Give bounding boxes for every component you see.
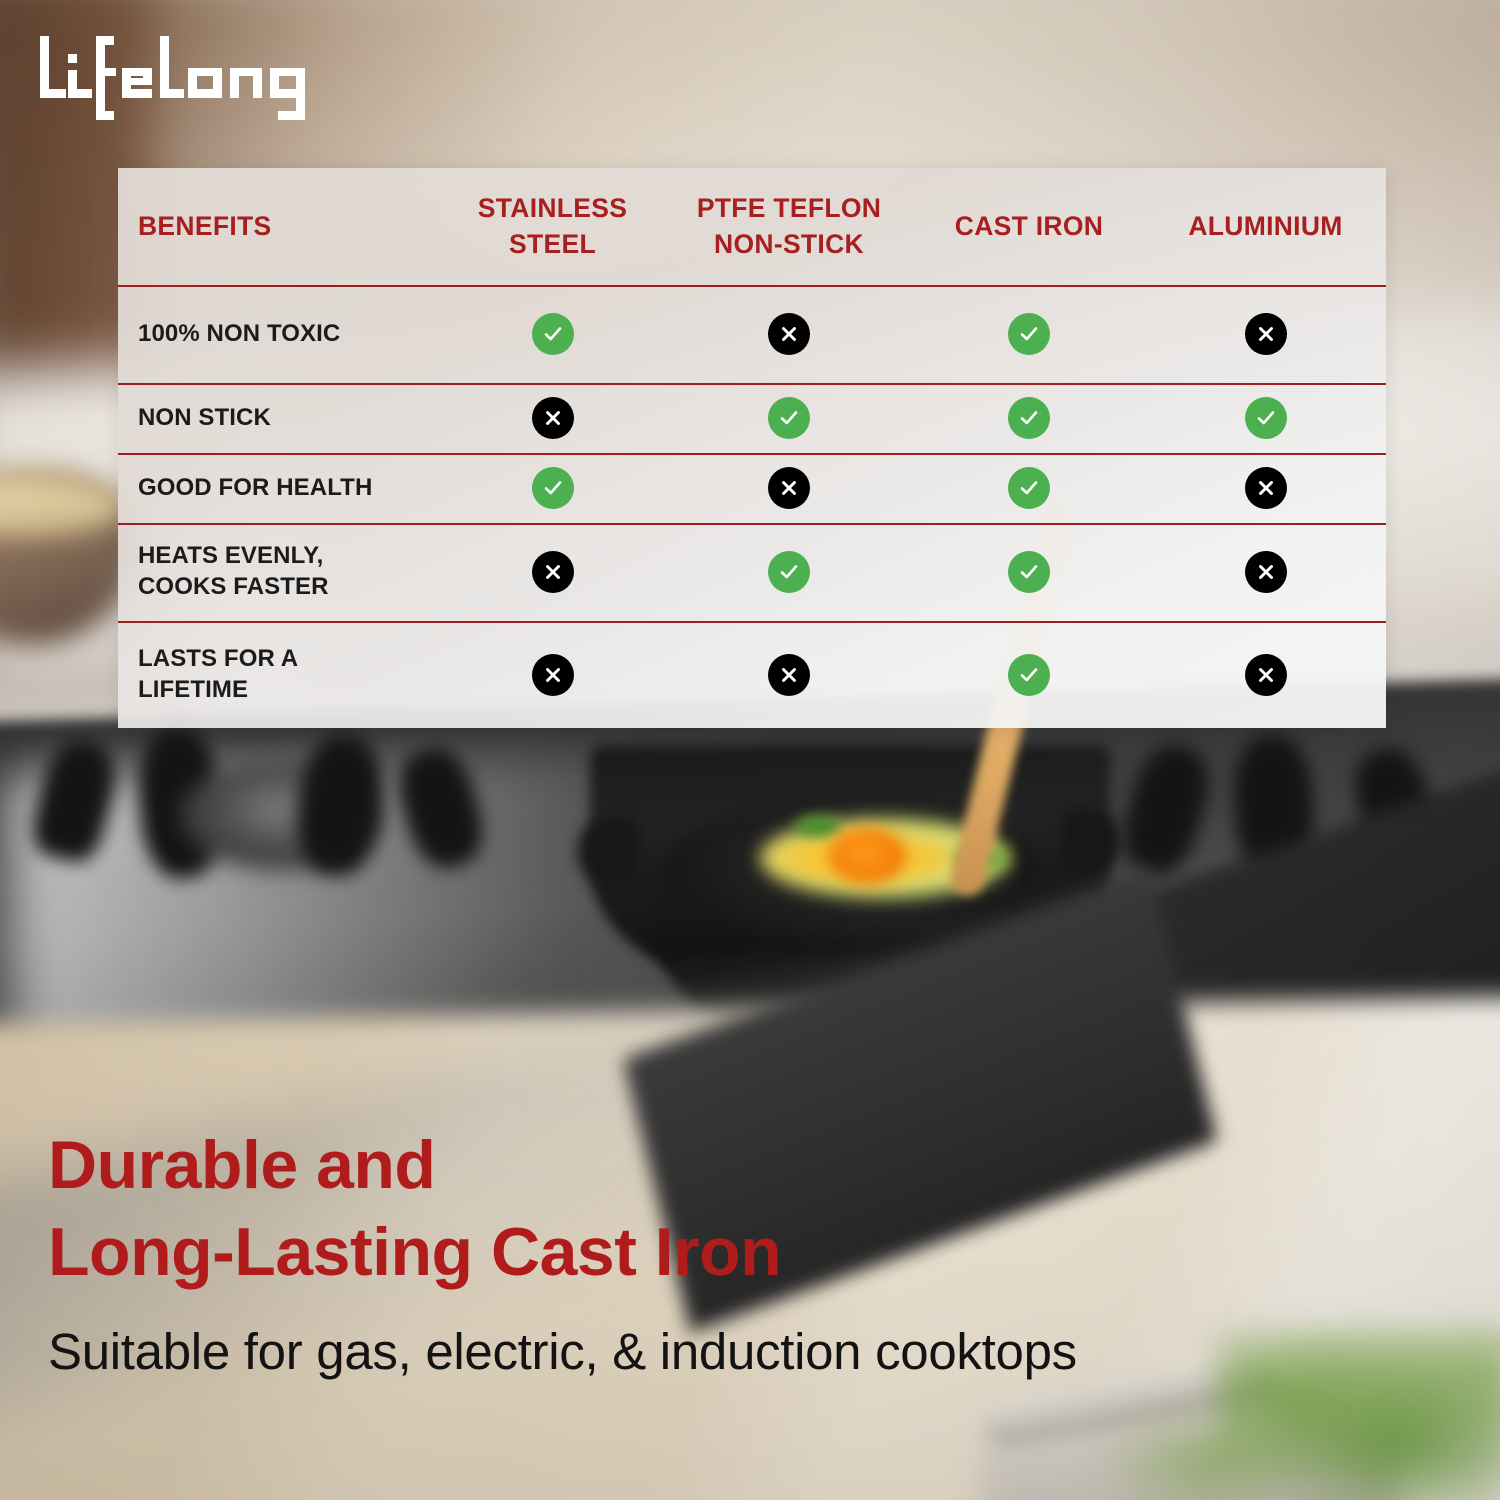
- table-row: LASTS FOR A LIFETIME: [118, 621, 1386, 728]
- row-label-lasts-lifetime: LASTS FOR A LIFETIME: [118, 621, 440, 728]
- cell-health-ptfe: [665, 453, 913, 523]
- cross-circle-icon: [768, 313, 810, 355]
- row-divider: [118, 453, 1386, 455]
- row-label-heats-evenly: HEATS EVENLY, COOKS FASTER: [118, 523, 440, 621]
- cross-circle-icon: [768, 654, 810, 696]
- page-subtitle: Suitable for gas, electric, & induction …: [48, 1322, 1348, 1381]
- headline-line-1: Durable and: [48, 1127, 435, 1203]
- row-divider: [118, 523, 1386, 525]
- cell-lifetime-ptfe: [665, 621, 913, 728]
- check-circle-icon: [1008, 467, 1050, 509]
- check-circle-icon: [532, 467, 574, 509]
- page-title: Durable and Long-Lasting Cast Iron: [48, 1122, 1248, 1296]
- cell-health-aluminium: [1145, 453, 1386, 523]
- row-label-good-for-health: GOOD FOR HEALTH: [118, 453, 440, 523]
- lifelong-wordmark-icon: [38, 32, 338, 124]
- row-divider: [118, 621, 1386, 623]
- cell-heats-stainless: [440, 523, 665, 621]
- cell-non-toxic-castiron: [913, 285, 1145, 383]
- row-label-non-stick: NON STICK: [118, 383, 440, 453]
- cell-non-stick-ptfe: [665, 383, 913, 453]
- row-divider: [118, 383, 1386, 385]
- check-circle-icon: [1245, 397, 1287, 439]
- headline-line-2: Long-Lasting Cast Iron: [48, 1209, 1248, 1296]
- check-circle-icon: [1008, 551, 1050, 593]
- cell-health-stainless: [440, 453, 665, 523]
- cell-heats-ptfe: [665, 523, 913, 621]
- cross-circle-icon: [532, 654, 574, 696]
- column-header-aluminium: ALUMINIUM: [1145, 168, 1386, 285]
- cross-circle-icon: [532, 397, 574, 439]
- table-header-row: BENEFITS STAINLESS STEEL PTFE TEFLON NON…: [118, 168, 1386, 285]
- cell-lifetime-castiron: [913, 621, 1145, 728]
- cross-circle-icon: [768, 467, 810, 509]
- cell-heats-castiron: [913, 523, 1145, 621]
- check-circle-icon: [768, 397, 810, 439]
- cross-circle-icon: [1245, 551, 1287, 593]
- cell-lifetime-stainless: [440, 621, 665, 728]
- cell-non-stick-castiron: [913, 383, 1145, 453]
- material-comparison-table: BENEFITS STAINLESS STEEL PTFE TEFLON NON…: [118, 168, 1386, 728]
- cell-lifetime-aluminium: [1145, 621, 1386, 728]
- lifelong-logo: [38, 32, 338, 124]
- cross-circle-icon: [532, 551, 574, 593]
- cross-circle-icon: [1245, 313, 1287, 355]
- cell-non-toxic-ptfe: [665, 285, 913, 383]
- check-circle-icon: [1008, 313, 1050, 355]
- check-circle-icon: [1008, 654, 1050, 696]
- table-row: HEATS EVENLY, COOKS FASTER: [118, 523, 1386, 621]
- column-header-cast-iron: CAST IRON: [913, 168, 1145, 285]
- table-row: GOOD FOR HEALTH: [118, 453, 1386, 523]
- check-circle-icon: [532, 313, 574, 355]
- check-circle-icon: [1008, 397, 1050, 439]
- cell-non-stick-stainless: [440, 383, 665, 453]
- table-row: 100% NON TOXIC: [118, 285, 1386, 383]
- row-label-non-toxic: 100% NON TOXIC: [118, 285, 440, 383]
- column-header-stainless-steel: STAINLESS STEEL: [440, 168, 665, 285]
- cell-health-castiron: [913, 453, 1145, 523]
- column-header-benefits: BENEFITS: [118, 168, 440, 285]
- cell-non-stick-aluminium: [1145, 383, 1386, 453]
- product-feature-poster: BENEFITS STAINLESS STEEL PTFE TEFLON NON…: [0, 0, 1500, 1500]
- cell-non-toxic-stainless: [440, 285, 665, 383]
- cross-circle-icon: [1245, 654, 1287, 696]
- cell-non-toxic-aluminium: [1145, 285, 1386, 383]
- column-header-ptfe-teflon: PTFE TEFLON NON-STICK: [665, 168, 913, 285]
- cell-heats-aluminium: [1145, 523, 1386, 621]
- check-circle-icon: [768, 551, 810, 593]
- row-divider: [118, 285, 1386, 287]
- cross-circle-icon: [1245, 467, 1287, 509]
- table-row: NON STICK: [118, 383, 1386, 453]
